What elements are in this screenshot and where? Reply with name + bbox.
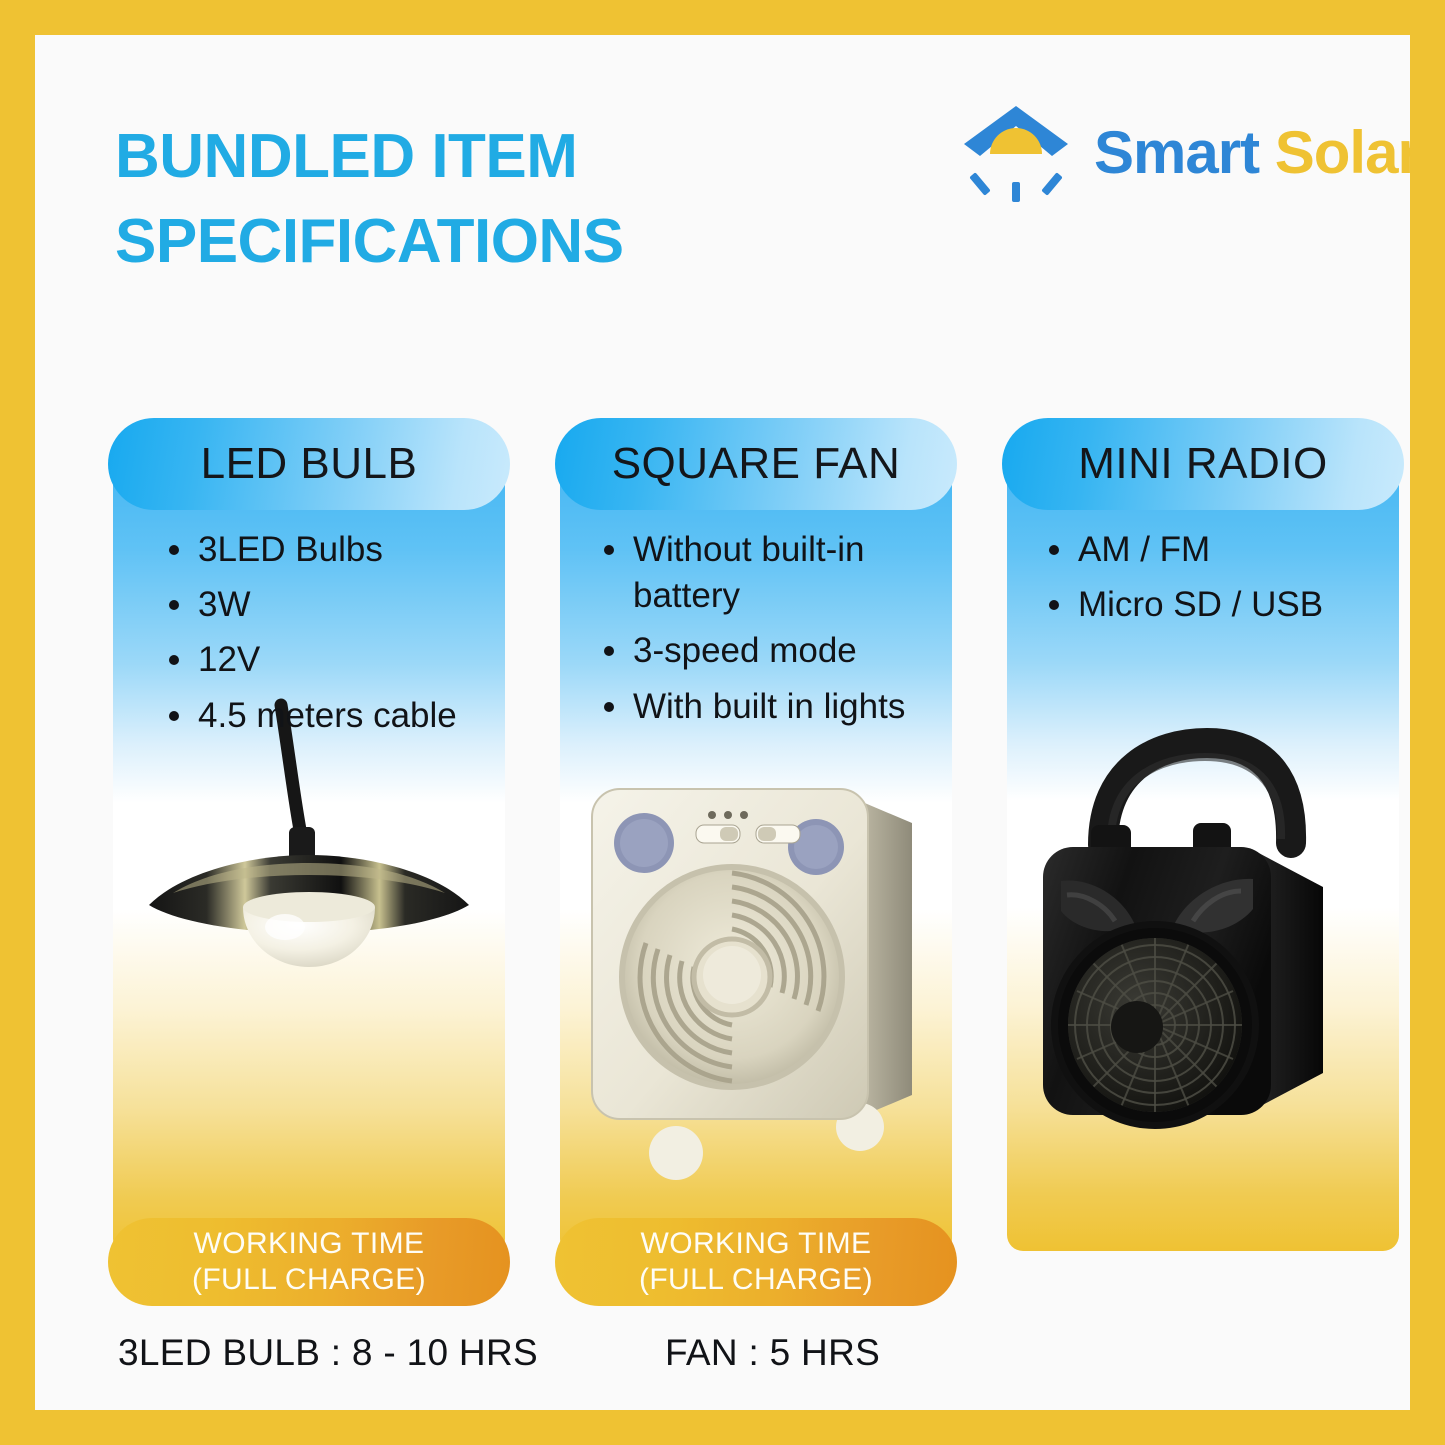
runtime-label-led-bulb: 3LED BULB : 8 - 10 HRS	[118, 1332, 538, 1374]
solar-roof-sun-icon	[960, 100, 1072, 204]
spec-item: 3-speed mode	[595, 628, 945, 674]
spec-item: 12V	[160, 637, 500, 683]
page-title-line-2: SPECIFICATIONS	[115, 200, 915, 285]
card-footer-square-fan: WORKING TIME (FULL CHARGE)	[555, 1218, 957, 1306]
card-title-led-bulb: LED BULB	[201, 439, 418, 489]
brand-word-solar: Solar	[1275, 119, 1420, 186]
brand-wordmark: Smart Solar	[1094, 118, 1420, 187]
card-footer-led-bulb: WORKING TIME (FULL CHARGE)	[108, 1218, 510, 1306]
card-header-mini-radio: MINI RADIO	[1002, 418, 1404, 510]
card-header-square-fan: SQUARE FAN	[555, 418, 957, 510]
brand-logo: Smart Solar	[960, 97, 1430, 207]
footer-line-2: (FULL CHARGE)	[192, 1262, 426, 1298]
spec-list-mini-radio: AM / FM Micro SD / USB	[1040, 527, 1390, 637]
card-title-mini-radio: MINI RADIO	[1078, 439, 1327, 489]
page-title: BUNDLED ITEM SPECIFICATIONS	[115, 115, 915, 285]
runtime-label-square-fan: FAN : 5 HRS	[665, 1332, 880, 1374]
spec-item: Without built-in battery	[595, 527, 945, 619]
footer-line-1: WORKING TIME	[641, 1226, 872, 1262]
brand-word-smart: Smart	[1094, 119, 1259, 186]
page-title-line-1: BUNDLED ITEM	[115, 115, 915, 200]
poster-root: BUNDLED ITEM SPECIFICATIONS Smart Solar	[0, 0, 1445, 1445]
poster-inner-panel: BUNDLED ITEM SPECIFICATIONS Smart Solar	[35, 35, 1410, 1410]
spec-item: Micro SD / USB	[1040, 582, 1390, 628]
spec-list-led-bulb: 3LED Bulbs 3W 12V 4.5 meters cable	[160, 527, 500, 748]
card-header-led-bulb: LED BULB	[108, 418, 510, 510]
spec-item: AM / FM	[1040, 527, 1390, 573]
footer-line-1: WORKING TIME	[194, 1226, 425, 1262]
spec-item: With built in lights	[595, 684, 945, 730]
spec-item: 3LED Bulbs	[160, 527, 500, 573]
card-title-square-fan: SQUARE FAN	[612, 439, 901, 489]
spec-list-square-fan: Without built-in battery 3-speed mode Wi…	[595, 527, 945, 739]
spec-item: 3W	[160, 582, 500, 628]
spec-item: 4.5 meters cable	[160, 693, 500, 739]
footer-line-2: (FULL CHARGE)	[639, 1262, 873, 1298]
